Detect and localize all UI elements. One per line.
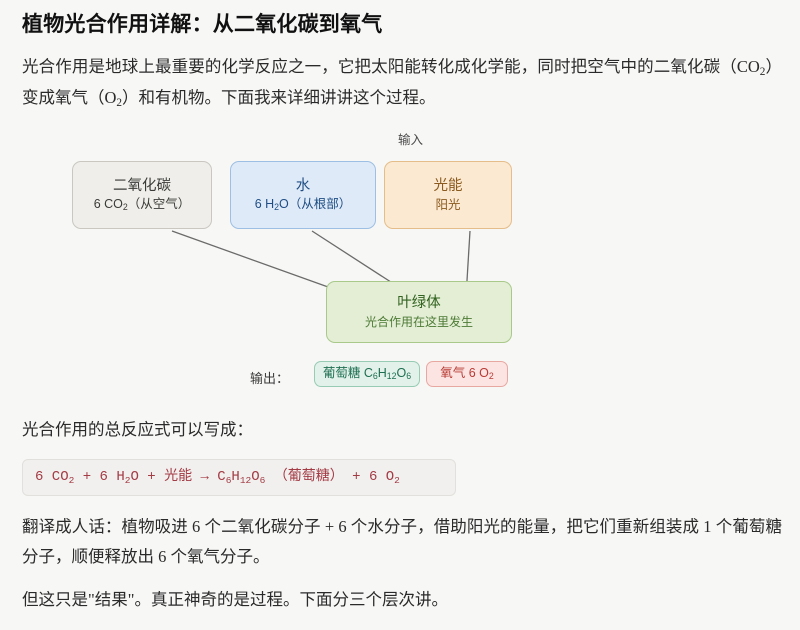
- page-title: 植物光合作用详解：从二氧化碳到氧气: [22, 0, 778, 38]
- equation-s4: 12: [240, 475, 251, 486]
- node-chloroplast[interactable]: 叶绿体 光合作用在这里发生: [326, 281, 512, 343]
- node-co2-title: 二氧化碳: [113, 177, 171, 197]
- node-water-title: 水: [296, 177, 311, 197]
- diagram-input-label: 输入: [398, 129, 423, 148]
- node-oxygen-formula: 氧气 6 O2: [440, 365, 494, 383]
- equation-t6: （葡萄糖） + 6 O: [265, 469, 394, 485]
- intro-paragraph: 光合作用是地球上最重要的化学反应之一，它把太阳能转化成化学能，同时把空气中的二氧…: [22, 52, 782, 113]
- node-water[interactable]: 水 6 H2O（从根部）: [230, 161, 376, 229]
- node-water-formula-suffix: O（从根部）: [279, 197, 351, 211]
- node-glucose-prefix: 葡萄糖 C: [323, 366, 373, 380]
- equation-t3: O + 光能 → C: [130, 469, 225, 485]
- node-glucose-mid1: H: [378, 366, 387, 380]
- explanation-paragraph: 翻译成人话：植物吸进 6 个二氧化碳分子 + 6 个水分子，借助阳光的能量，把它…: [22, 512, 782, 572]
- node-co2-formula: 6 CO2（从空气）: [94, 196, 191, 214]
- node-light-energy[interactable]: 光能 阳光: [384, 161, 512, 229]
- diagram-output-label: 输出：: [250, 368, 289, 387]
- node-chloroplast-title: 叶绿体: [397, 294, 441, 314]
- equation-s6: 2: [394, 475, 400, 486]
- node-water-formula-prefix: 6 H: [255, 197, 274, 211]
- equation-lead-text: 光合作用的总反应式可以写成：: [22, 415, 782, 445]
- intro-text-part3: ）和有机物。下面我来详细讲讲这个过程。: [122, 88, 436, 107]
- node-oxygen-prefix: 氧气 6 O: [440, 366, 489, 380]
- node-oxygen[interactable]: 氧气 6 O2: [426, 361, 508, 387]
- node-light-title: 光能: [434, 177, 463, 197]
- node-co2-formula-prefix: 6 CO: [94, 197, 123, 211]
- photosynthesis-diagram: 输入 二氧化碳 6 CO2（从空气） 水 6 H2O（从根部） 光能 阳光 叶绿…: [22, 123, 782, 413]
- equation-t5: O: [251, 469, 259, 485]
- node-chloroplast-subtitle: 光合作用在这里发生: [365, 314, 473, 330]
- node-oxygen-sub1: 2: [489, 372, 494, 382]
- article-page: 植物光合作用详解：从二氧化碳到氧气 光合作用是地球上最重要的化学反应之一，它把太…: [0, 0, 800, 630]
- equation-t1: 6 CO: [35, 469, 69, 485]
- node-glucose-mid2: O: [397, 366, 407, 380]
- node-glucose-formula: 葡萄糖 C6H12O6: [323, 365, 411, 383]
- equation-code-block: 6 CO2 + 6 H2O + 光能 → C6H12O6 （葡萄糖） + 6 O…: [22, 459, 456, 496]
- node-light-subtitle: 阳光: [435, 197, 460, 214]
- node-glucose-sub3: 6: [406, 372, 411, 382]
- node-co2-formula-suffix: （从空气）: [128, 197, 191, 211]
- closing-paragraph: 但这只是"结果"。真正神奇的是过程。下面分三个层次讲。: [22, 585, 782, 615]
- equation-t2: + 6 H: [74, 469, 124, 485]
- node-glucose[interactable]: 葡萄糖 C6H12O6: [314, 361, 420, 387]
- node-glucose-sub2: 12: [387, 372, 397, 382]
- node-water-formula: 6 H2O（从根部）: [255, 196, 352, 214]
- equation-t4: H: [231, 469, 239, 485]
- node-carbon-dioxide[interactable]: 二氧化碳 6 CO2（从空气）: [72, 161, 212, 229]
- intro-text-part1: 光合作用是地球上最重要的化学反应之一，它把太阳能转化成化学能，同时把空气中的二氧…: [22, 57, 760, 76]
